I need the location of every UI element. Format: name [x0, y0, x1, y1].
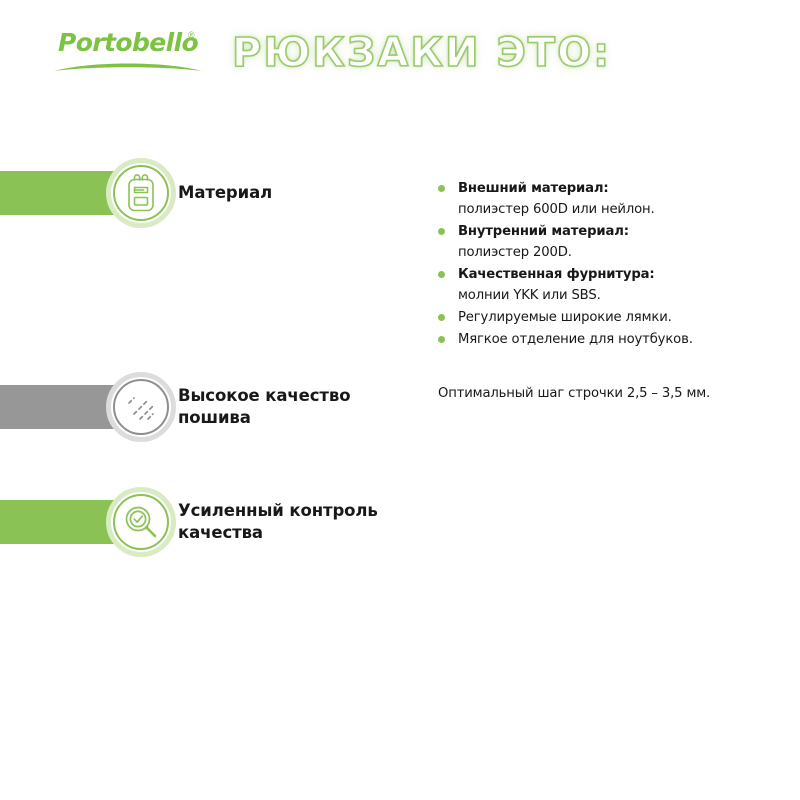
bullet-title: Мягкое отделение для ноутбуков. [458, 329, 768, 350]
portobello-logo: Portobello ® [58, 28, 208, 80]
section-label-quality-control: Усиленный контроль качества [178, 487, 418, 557]
bullet-title: Качественная фурнитура: [458, 264, 768, 285]
section-stitch-quality: Высокое качество пошива [0, 372, 800, 442]
quality-note: Оптимальный шаг строчки 2,5 – 3,5 мм. [438, 384, 778, 404]
bullet-title: Внешний материал: [458, 178, 768, 199]
page-title: РЮКЗАКИ ЭТО: [232, 24, 652, 84]
registered-trademark-icon: ® [188, 30, 195, 40]
logo-swoosh-icon [52, 60, 204, 74]
magnifier-check-icon [121, 502, 161, 542]
section-label-line: Высокое качество [178, 385, 418, 407]
stitching-icon-badge [106, 372, 176, 442]
bullet-dot-icon [438, 336, 445, 343]
list-item: Регулируемые широкие лямки. [438, 307, 768, 328]
logo-wordmark: Portobello [58, 28, 198, 57]
header: Portobello ® РЮКЗАКИ ЭТО: [0, 0, 800, 110]
list-item: Внутренний материал: полиэстер 200D. [438, 221, 768, 263]
bullet-subtitle: полиэстер 600D или нейлон. [458, 199, 768, 220]
section-label-line: качества [178, 522, 418, 544]
stitching-icon [122, 388, 160, 426]
bullet-title: Регулируемые широкие лямки. [458, 307, 768, 328]
section-quality-control: Усиленный контроль качества [0, 487, 800, 557]
section-label-line: пошива [178, 407, 418, 429]
bullet-dot-icon [438, 185, 445, 192]
list-item: Внешний материал: полиэстер 600D или ней… [438, 178, 768, 220]
list-item: Качественная фурнитура: молнии YKK или S… [438, 264, 768, 306]
bullet-dot-icon [438, 228, 445, 235]
bullet-subtitle: молнии YKK или SBS. [458, 285, 768, 306]
section-label-material: Материал [178, 158, 418, 228]
material-bullet-list: Внешний материал: полиэстер 600D или ней… [438, 178, 768, 351]
bullet-subtitle: полиэстер 200D. [458, 242, 768, 263]
bullet-dot-icon [438, 314, 445, 321]
bullet-title: Внутренний материал: [458, 221, 768, 242]
bullet-dot-icon [438, 271, 445, 278]
magnifier-check-icon-badge [106, 487, 176, 557]
section-label-line: Материал [178, 182, 418, 204]
section-label-line: Усиленный контроль [178, 500, 418, 522]
backpack-icon-badge [106, 158, 176, 228]
list-item: Мягкое отделение для ноутбуков. [438, 329, 768, 350]
section-label-stitch-quality: Высокое качество пошива [178, 372, 418, 442]
backpack-icon [124, 172, 158, 214]
infographic-page: Portobello ® РЮКЗАКИ ЭТО: [0, 0, 800, 800]
